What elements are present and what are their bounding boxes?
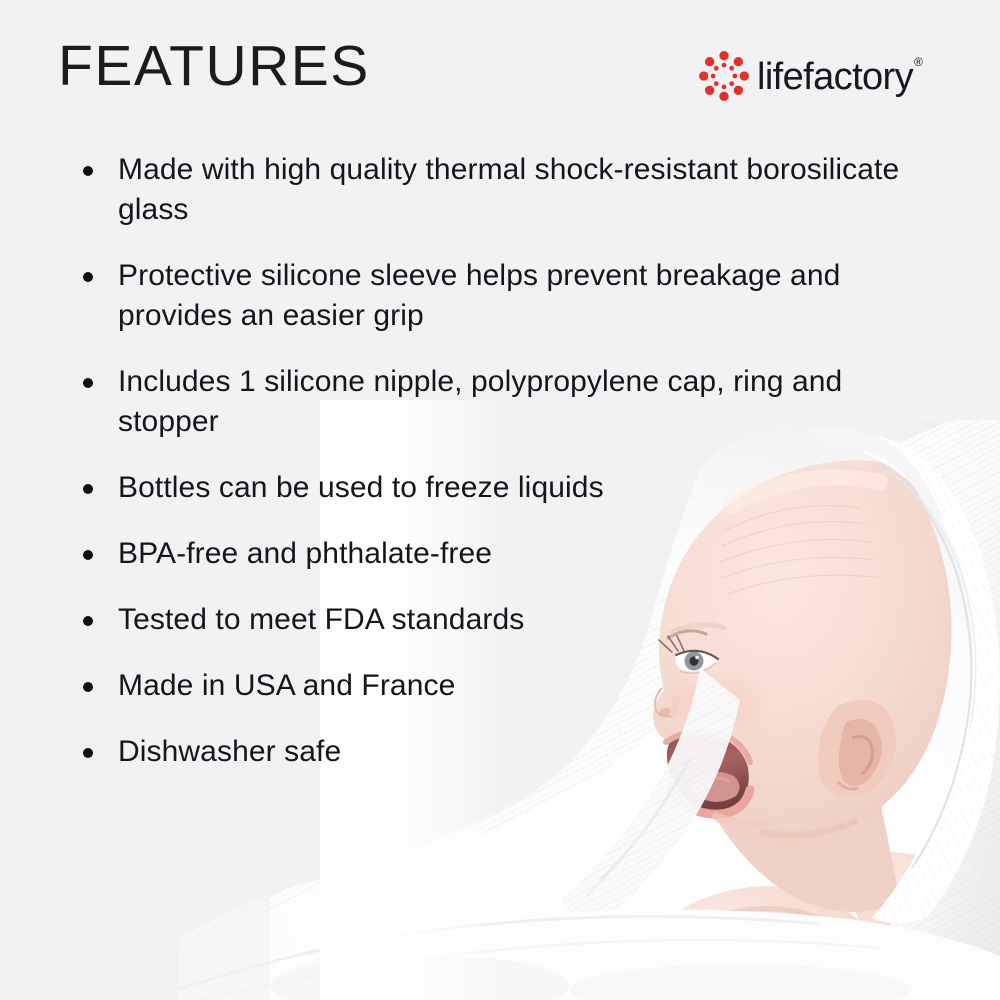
bullet-icon — [83, 616, 93, 626]
feature-item: Bottles can be used to freeze liquids — [0, 468, 950, 508]
feature-item: Made in USA and France — [0, 666, 950, 706]
feature-item: Protective silicone sleeve helps prevent… — [0, 256, 950, 336]
bullet-icon — [83, 748, 93, 758]
feature-text: Protective silicone sleeve helps prevent… — [118, 256, 950, 336]
registered-trademark-icon: ® — [914, 55, 922, 69]
feature-item: Dishwasher safe — [0, 732, 950, 772]
bullet-icon — [83, 484, 93, 494]
lifefactory-dot-burst-icon — [698, 50, 750, 102]
feature-text: Made in USA and France — [118, 666, 950, 706]
feature-text: Bottles can be used to freeze liquids — [118, 468, 950, 508]
feature-item: Includes 1 silicone nipple, polypropylen… — [0, 362, 950, 442]
brand-wordmark: lifefactory® — [757, 58, 921, 96]
page-title: FEATURES — [58, 38, 370, 95]
bullet-icon — [83, 272, 93, 282]
feature-text: Includes 1 silicone nipple, polypropylen… — [118, 362, 950, 442]
bullet-icon — [83, 166, 93, 176]
features-list: Made with high quality thermal shock-res… — [0, 150, 950, 772]
feature-text: BPA-free and phthalate-free — [118, 534, 950, 574]
feature-item: Tested to meet FDA standards — [0, 600, 950, 640]
brand-logo: lifefactory® — [698, 48, 948, 104]
feature-text: Tested to meet FDA standards — [118, 600, 950, 640]
feature-item: Made with high quality thermal shock-res… — [0, 150, 950, 230]
bullet-icon — [83, 378, 93, 388]
header: FEATURES — [0, 0, 1000, 130]
feature-slide: FEATURES — [0, 0, 1000, 1000]
feature-item: BPA-free and phthalate-free — [0, 534, 950, 574]
bullet-icon — [83, 682, 93, 692]
bullet-icon — [83, 550, 93, 560]
brand-name: lifefactory — [757, 56, 913, 98]
feature-text: Made with high quality thermal shock-res… — [118, 150, 950, 230]
feature-text: Dishwasher safe — [118, 732, 950, 772]
